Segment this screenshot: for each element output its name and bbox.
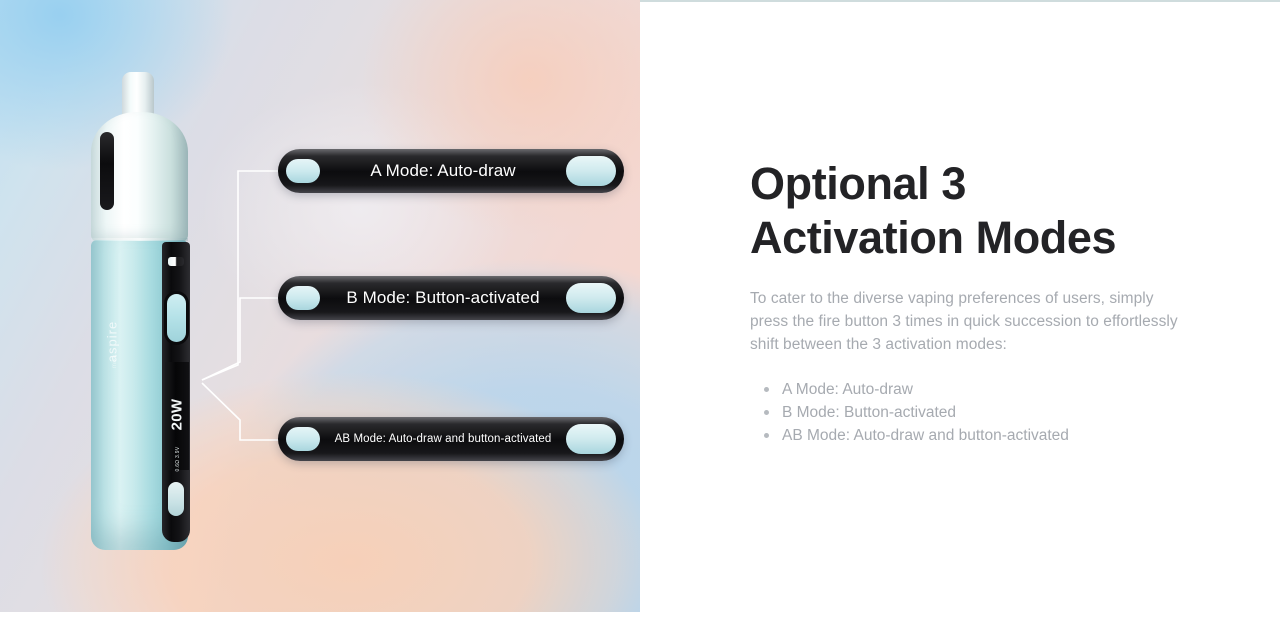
device-seam (91, 238, 188, 241)
callout-label: A Mode: Auto-draw (320, 161, 566, 181)
description-paragraph: To cater to the diverse vaping preferenc… (750, 287, 1180, 356)
page-title: Optional 3 Activation Modes (750, 157, 1180, 265)
callout-pill-b-mode: B Mode: Button-activated (278, 276, 624, 320)
activation-modes-list: A Mode: Auto-draw B Mode: Button-activat… (750, 378, 1180, 447)
device-fire-button[interactable] (167, 294, 186, 342)
pill-cap-left-icon (286, 286, 320, 310)
callout-label: B Mode: Button-activated (320, 288, 566, 308)
product-feature-page: aspire mixx 20W 0.6Ω 3.9V A Mode: Auto-d… (0, 0, 1280, 620)
pill-cap-left-icon (286, 427, 320, 451)
device-adjust-button[interactable] (168, 482, 184, 516)
pill-cap-right-icon (566, 156, 616, 186)
content-container: Optional 3 Activation Modes To cater to … (750, 157, 1180, 447)
bullet-icon (764, 410, 769, 415)
device-indicator-led (168, 257, 184, 266)
background-peach-blob-topright (300, 0, 640, 290)
page-title-line-1: Optional 3 (750, 158, 966, 209)
callout-pill-ab-mode: AB Mode: Auto-draw and button-activated (278, 417, 624, 461)
callout-pill-a-mode: A Mode: Auto-draw (278, 149, 624, 193)
page-title-line-2: Activation Modes (750, 212, 1116, 263)
pill-cap-left-icon (286, 159, 320, 183)
bullet-icon (764, 387, 769, 392)
device-pod-window (100, 132, 114, 210)
device-brand-sublabel: mixx (112, 332, 118, 390)
product-photo-panel: aspire mixx 20W 0.6Ω 3.9V A Mode: Auto-d… (0, 0, 640, 612)
pill-cap-right-icon (566, 283, 616, 313)
text-content-panel: Optional 3 Activation Modes To cater to … (640, 0, 1280, 620)
list-item-label: AB Mode: Auto-draw and button-activated (782, 427, 1069, 444)
bullet-icon (764, 433, 769, 438)
list-item-label: B Mode: Button-activated (782, 404, 956, 421)
callout-label: AB Mode: Auto-draw and button-activated (320, 433, 566, 445)
list-item: B Mode: Button-activated (782, 401, 1180, 424)
device-screen-icons: 0.6Ω 3.9V (175, 437, 181, 481)
list-item: A Mode: Auto-draw (782, 378, 1180, 401)
device-screen: 20W 0.6Ω 3.9V (165, 362, 189, 470)
list-item: AB Mode: Auto-draw and button-activated (782, 424, 1180, 447)
vape-device: aspire mixx 20W 0.6Ω 3.9V (84, 72, 200, 554)
pill-cap-right-icon (566, 424, 616, 454)
list-item-label: A Mode: Auto-draw (782, 381, 913, 398)
